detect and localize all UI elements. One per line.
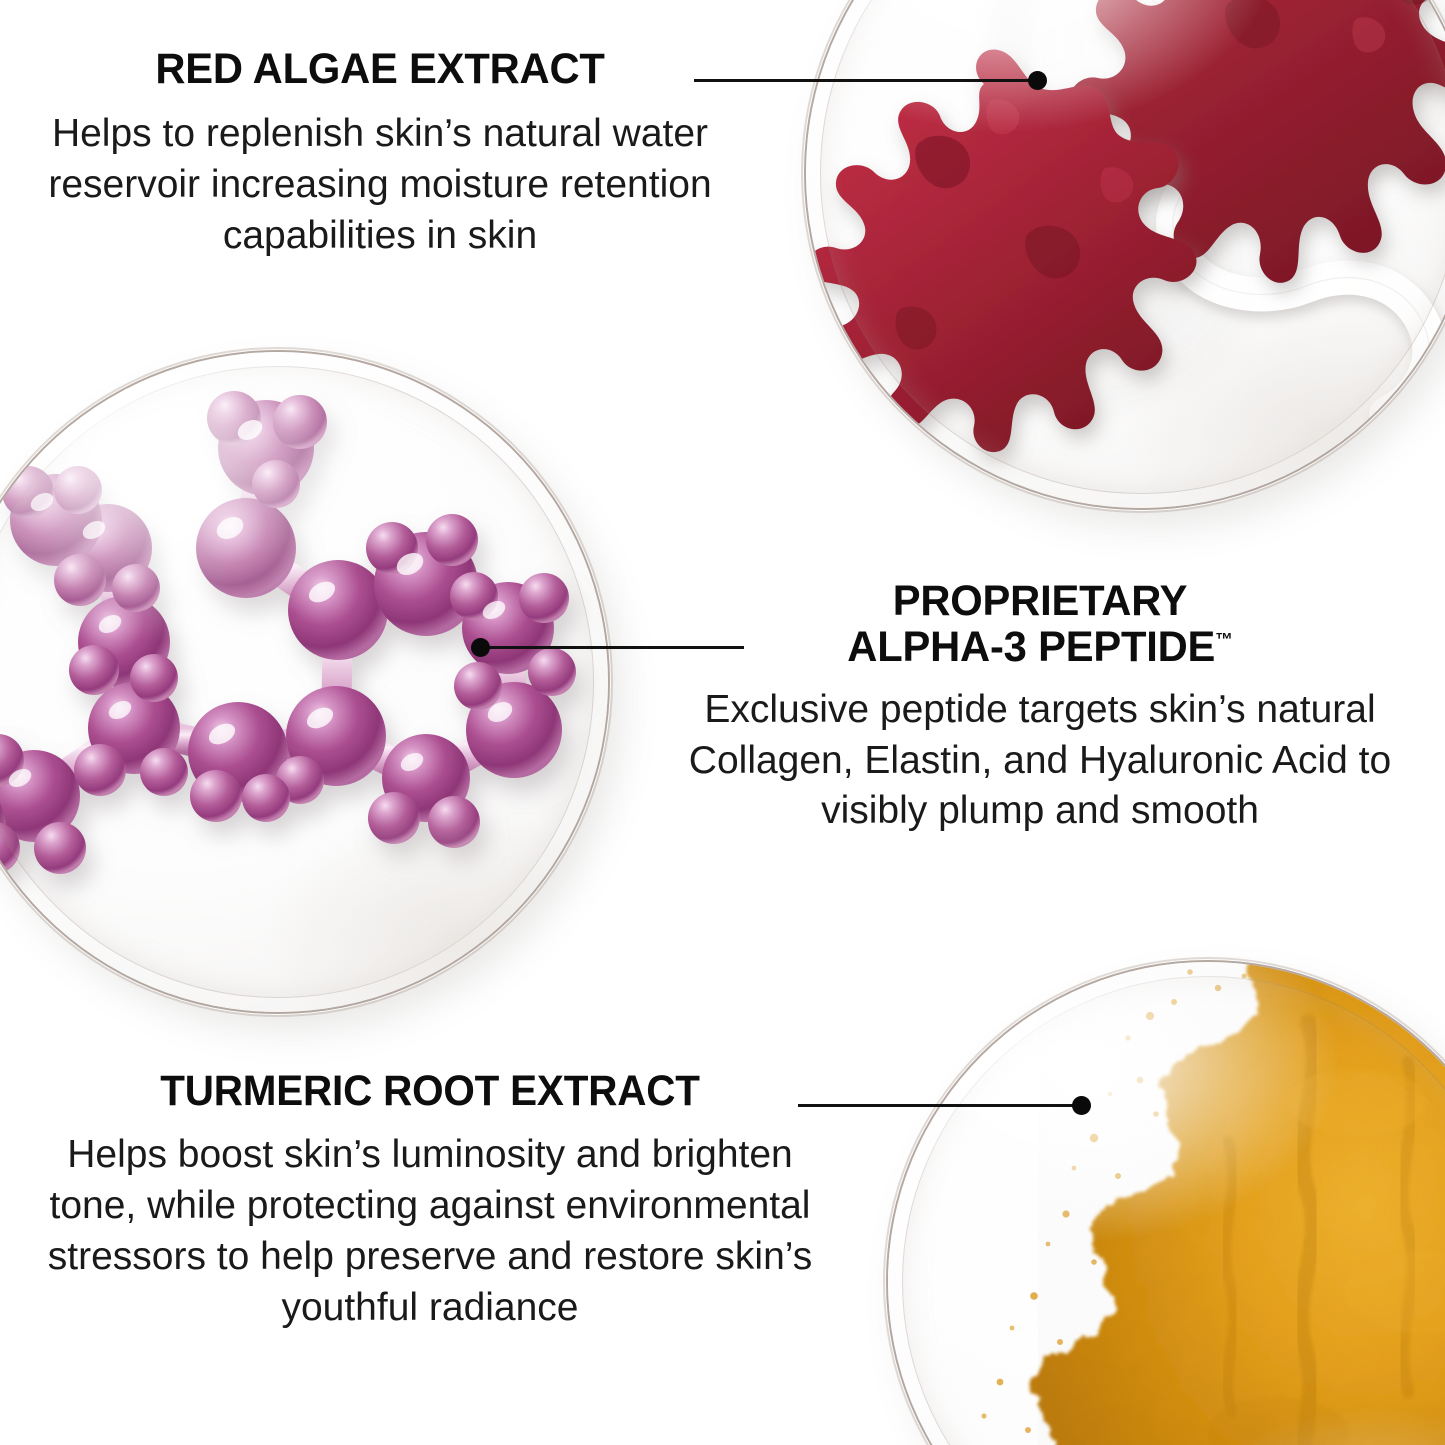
peptide-molecule-illustration [0,352,608,1012]
ingredient-description-red-algae: Helps to replenish skin’s natural water … [0,109,760,261]
leader-dot-peptide [471,638,490,657]
red-algae-illustration [806,0,1445,508]
title-line-1: PROPRIETARY [893,577,1188,625]
turmeric-powder-petri-dish [888,962,1445,1445]
trademark-symbol: ™ [1215,630,1233,650]
ingredient-description-alpha-3-peptide: Exclusive peptide targets skin’s natural… [640,685,1440,837]
ingredient-block-turmeric-root: TURMERIC ROOT EXTRACT Helps boost skin’s… [0,1068,860,1333]
title-line-2: ALPHA-3 PEPTIDE [847,623,1215,671]
ingredient-title-red-algae: RED ALGAE EXTRACT [11,46,748,92]
ingredient-infographic: RED ALGAE EXTRACT Helps to replenish ski… [0,0,1445,1445]
ingredient-block-red-algae: RED ALGAE EXTRACT Helps to replenish ski… [0,46,760,262]
leader-dot-red-algae [1028,71,1047,90]
ingredient-block-alpha-3-peptide: PROPRIETARY ALPHA-3 PEPTIDE™ Exclusive p… [640,578,1440,837]
peptide-molecule-petri-dish [0,352,608,1012]
leader-dot-turmeric [1072,1096,1091,1115]
turmeric-grain-texture [1038,962,1445,1445]
ingredient-title-turmeric-root: TURMERIC ROOT EXTRACT [26,1068,834,1114]
turmeric-powder-illustration [888,962,1445,1445]
ingredient-description-turmeric-root: Helps boost skin’s luminosity and bright… [0,1130,860,1333]
red-algae-petri-dish [806,0,1445,508]
ingredient-title-alpha-3-peptide: PROPRIETARY ALPHA-3 PEPTIDE™ [652,578,1428,671]
